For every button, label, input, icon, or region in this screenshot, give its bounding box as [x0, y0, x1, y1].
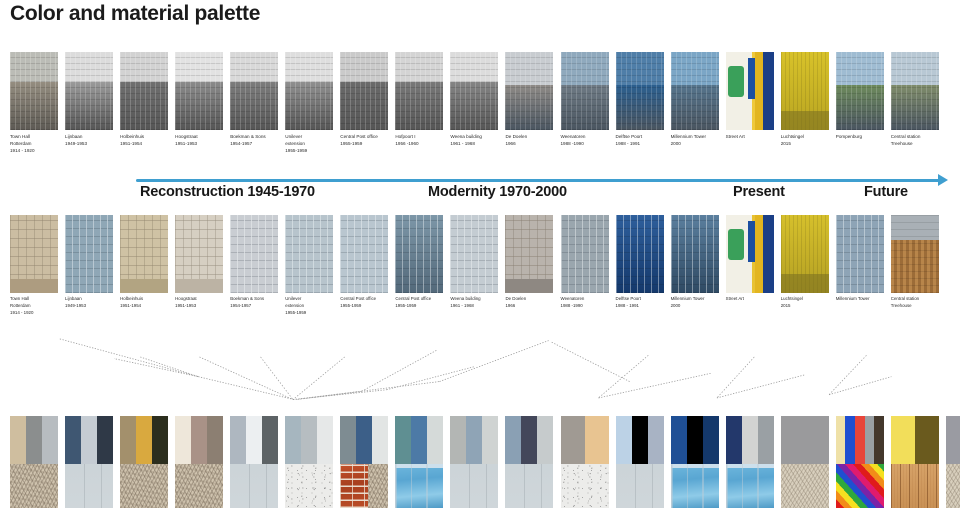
- luchtsingel-palette[interactable]: [891, 416, 939, 508]
- color-swatch: [616, 416, 632, 464]
- color-band: [450, 416, 498, 464]
- color-band: [836, 416, 884, 464]
- connector-line: [293, 390, 387, 400]
- building-thumbnail[interactable]: [505, 52, 553, 130]
- photo-cell[interactable]: De Doelen 1966: [505, 52, 553, 147]
- unilever-palette[interactable]: [285, 416, 333, 508]
- color-swatch: [671, 416, 687, 464]
- connector-line: [362, 350, 437, 391]
- material-swatch: [285, 464, 333, 508]
- connector-line: [199, 357, 293, 400]
- building-thumbnail[interactable]: [10, 52, 58, 130]
- color-swatch: [136, 416, 152, 464]
- building-thumbnail[interactable]: [10, 215, 58, 293]
- building-thumbnail[interactable]: [395, 215, 443, 293]
- photo-cell[interactable]: Luchtsingel 2015: [781, 215, 829, 310]
- color-swatch: [340, 416, 356, 464]
- timeline-era-future: Future: [864, 184, 908, 200]
- central-post-office-palette[interactable]: [340, 416, 388, 508]
- color-swatch: [836, 416, 846, 464]
- photo-caption: Boekman & Sons 1954-1957: [230, 133, 278, 147]
- photo-cell[interactable]: Holbeinhuis 1951-1954: [120, 52, 168, 147]
- photo-caption: Hofpoort I 1956 -1960: [395, 133, 443, 147]
- photo-caption: Hoogstraat 1951-1953: [175, 133, 223, 147]
- building-thumbnail[interactable]: [505, 215, 553, 293]
- photo-cell[interactable]: Town Hall Rotterdam 1914 - 1920: [10, 52, 58, 154]
- building-thumbnail[interactable]: [616, 52, 664, 130]
- color-swatch: [855, 416, 865, 464]
- photo-caption: De Doelen 1966: [505, 296, 553, 310]
- building-thumbnail[interactable]: [891, 52, 939, 130]
- connector-line: [829, 355, 866, 394]
- color-band: [726, 416, 774, 464]
- building-thumbnail[interactable]: [781, 52, 829, 130]
- weenatoren-palette[interactable]: [561, 416, 609, 508]
- color-swatch: [505, 416, 521, 464]
- photo-cell[interactable]: Unilever extension 1955-1959: [285, 215, 333, 316]
- material-swatch: [616, 464, 664, 508]
- photo-cell[interactable]: Unilever extension 1955-1959: [285, 52, 333, 154]
- building-thumbnail[interactable]: [561, 215, 609, 293]
- photo-caption: Millennium Tower: [836, 296, 884, 303]
- color-swatch: [65, 416, 81, 464]
- material-swatch: [120, 464, 168, 508]
- material-swatch: [781, 464, 829, 508]
- photo-cell[interactable]: Weena building 1961 - 1968: [450, 52, 498, 147]
- timeline-era-modernity: Modernity 1970-2000: [428, 184, 567, 200]
- hoogstraat-palette[interactable]: [175, 416, 223, 508]
- building-thumbnail[interactable]: [65, 52, 113, 130]
- connector-lines: [0, 334, 960, 416]
- building-thumbnail[interactable]: [175, 215, 223, 293]
- color-band: [781, 416, 829, 464]
- color-swatch: [874, 416, 884, 464]
- photo-cell[interactable]: Street Art: [726, 215, 774, 303]
- building-thumbnail[interactable]: [285, 52, 333, 130]
- photo-cell[interactable]: Millennium Tower 2000: [671, 215, 719, 310]
- building-thumbnail[interactable]: [671, 215, 719, 293]
- color-swatch: [97, 416, 113, 464]
- photo-caption: Delftse Poort 1988 - 1991: [616, 133, 664, 147]
- connector-line: [114, 359, 198, 377]
- photo-caption: Lijnbaan 1949-1953: [65, 296, 113, 310]
- color-swatch: [427, 416, 443, 464]
- color-swatch: [10, 416, 26, 464]
- photo-cell[interactable]: Town Hall Rotterdam 1914 - 1920: [10, 215, 58, 316]
- photo-cell[interactable]: Weenatoren 1988 -1990: [561, 52, 609, 147]
- connector-line: [293, 357, 345, 400]
- building-thumbnail[interactable]: [450, 52, 498, 130]
- timeline-axis-line: [136, 179, 942, 182]
- color-swatch: [632, 416, 648, 464]
- connector-line: [717, 357, 754, 398]
- building-thumbnail[interactable]: [175, 52, 223, 130]
- building-thumbnail[interactable]: [450, 215, 498, 293]
- color-band: [561, 416, 609, 464]
- photo-caption: Central Post office 1955-1959: [340, 133, 388, 147]
- photo-cell[interactable]: Millennium Tower 2000: [671, 52, 719, 147]
- photo-caption: Delftse Poort 1988 - 1991: [616, 296, 664, 310]
- material-swatch: [65, 464, 113, 508]
- color-swatch: [742, 416, 758, 464]
- material-swatch: [230, 464, 278, 508]
- color-swatch: [648, 416, 664, 464]
- photo-cell[interactable]: Central Post office 1955-1959: [340, 52, 388, 147]
- photo-cell[interactable]: Street Art: [726, 52, 774, 140]
- photo-cell[interactable]: Holbeinhuis 1951-1954: [120, 215, 168, 310]
- building-thumbnail[interactable]: [616, 215, 664, 293]
- photo-cell[interactable]: Luchtsingel 2015: [781, 52, 829, 147]
- building-thumbnail[interactable]: [65, 215, 113, 293]
- color-swatch: [246, 416, 262, 464]
- building-thumbnail[interactable]: [120, 52, 168, 130]
- timeline: Reconstruction 1945-1970 Modernity 1970-…: [0, 170, 960, 210]
- material-swatch: [175, 464, 223, 508]
- material-swatch: [891, 464, 939, 508]
- photo-caption: Holbeinhuis 1951-1954: [120, 296, 168, 310]
- color-swatch: [411, 416, 427, 464]
- connector-line: [829, 377, 891, 395]
- color-swatch: [285, 416, 301, 464]
- holbeinhuis-palette[interactable]: [120, 416, 168, 508]
- photo-caption: Hoogstraat 1951-1953: [175, 296, 223, 310]
- photo-cell[interactable]: Delftse Poort 1988 - 1991: [616, 215, 664, 310]
- color-swatch: [726, 416, 742, 464]
- photo-caption: Central Post office 1955-1959: [395, 296, 443, 310]
- color-band: [671, 416, 719, 464]
- photo-caption: Luchtsingel 2015: [781, 133, 829, 147]
- building-thumbnail[interactable]: [836, 52, 884, 130]
- photo-caption: Millennium Tower 2000: [671, 133, 719, 147]
- photo-caption: De Doelen 1966: [505, 133, 553, 147]
- color-swatch: [175, 416, 191, 464]
- color-swatch: [120, 416, 136, 464]
- weena-palette[interactable]: [450, 416, 498, 508]
- millennium-tower-2-palette[interactable]: [726, 416, 774, 508]
- color-swatch: [152, 416, 168, 464]
- material-swatch: [726, 464, 774, 508]
- town-hall-palette[interactable]: [10, 416, 58, 508]
- color-swatch: [482, 416, 498, 464]
- building-thumbnail[interactable]: [561, 52, 609, 130]
- color-swatch: [521, 416, 537, 464]
- connector-line: [598, 355, 648, 398]
- photo-cell[interactable]: Lijnbaan 1949-1953: [65, 52, 113, 147]
- photo-caption: Unilever extension 1955-1959: [285, 133, 333, 154]
- central-post-office-2-palette[interactable]: [395, 416, 443, 508]
- photo-cell[interactable]: Lijnbaan 1949-1953: [65, 215, 113, 310]
- building-thumbnail[interactable]: [120, 215, 168, 293]
- connector-line: [261, 357, 293, 400]
- color-band: [946, 416, 960, 464]
- color-band: [175, 416, 223, 464]
- photo-caption: Central station Treehouse: [891, 133, 939, 147]
- color-swatch: [891, 416, 915, 464]
- photo-caption: Lijnbaan 1949-1953: [65, 133, 113, 147]
- building-thumbnail[interactable]: [781, 215, 829, 293]
- material-swatch: [10, 464, 58, 508]
- color-swatch: [585, 416, 609, 464]
- color-swatch: [537, 416, 553, 464]
- connector-line: [198, 377, 294, 400]
- photo-cell[interactable]: Weena building 1961 - 1968: [450, 215, 498, 310]
- photo-cell[interactable]: Delftse Poort 1988 - 1991: [616, 52, 664, 147]
- photo-caption: Holbeinhuis 1951-1954: [120, 133, 168, 147]
- photo-caption: Street Art: [726, 133, 774, 140]
- photo-caption: Town Hall Rotterdam 1914 - 1920: [10, 133, 58, 154]
- color-band: [10, 416, 58, 464]
- color-swatch: [317, 416, 333, 464]
- color-swatch: [395, 416, 411, 464]
- timeline-era-present: Present: [733, 184, 785, 200]
- timeline-era-reconstruction: Reconstruction 1945-1970: [140, 184, 315, 200]
- delftse-poort-palette[interactable]: [616, 416, 664, 508]
- material-swatch: [671, 464, 719, 508]
- color-band: [230, 416, 278, 464]
- color-swatch: [561, 416, 585, 464]
- photo-caption: Central station Treehouse: [891, 296, 939, 310]
- material-swatch: [395, 464, 443, 508]
- color-band: [395, 416, 443, 464]
- building-thumbnail[interactable]: [230, 215, 278, 293]
- photo-cell[interactable]: Boekman & Sons 1954-1957: [230, 215, 278, 310]
- photo-caption: Street Art: [726, 296, 774, 303]
- photo-caption: Luchtsingel 2015: [781, 296, 829, 310]
- lijnbaan-palette[interactable]: [65, 416, 113, 508]
- color-swatch: [865, 416, 875, 464]
- photo-caption: Weena building 1961 - 1968: [450, 133, 498, 147]
- material-swatch: [836, 464, 884, 508]
- boekman-palette[interactable]: [230, 416, 278, 508]
- photo-caption: Town Hall Rotterdam 1914 - 1920: [10, 296, 58, 316]
- material-swatch: [561, 464, 609, 508]
- de-doelen-palette[interactable]: [505, 416, 553, 508]
- color-swatch: [356, 416, 372, 464]
- photo-caption: Unilever extension 1955-1959: [285, 296, 333, 316]
- color-band: [65, 416, 113, 464]
- color-band: [891, 416, 939, 464]
- building-thumbnail[interactable]: [891, 215, 939, 293]
- building-thumbnail[interactable]: [671, 52, 719, 130]
- color-swatch: [262, 416, 278, 464]
- photo-cell[interactable]: De Doelen 1966: [505, 215, 553, 310]
- material-swatch: [340, 464, 388, 508]
- color-swatch: [946, 416, 960, 464]
- color-swatch: [81, 416, 97, 464]
- street-art-palette[interactable]: [836, 416, 884, 508]
- millennium-tower-palette[interactable]: [671, 416, 719, 508]
- connector-line: [140, 357, 198, 377]
- material-swatch-brick: [340, 464, 368, 508]
- color-band: [285, 416, 333, 464]
- color-swatch: [26, 416, 42, 464]
- page-title: Color and material palette: [10, 2, 260, 26]
- photo-cell[interactable]: Hoogstraat 1951-1953: [175, 215, 223, 310]
- connector-line: [439, 341, 548, 382]
- color-band: [616, 416, 664, 464]
- color-swatch: [687, 416, 703, 464]
- color-band: [340, 416, 388, 464]
- photo-cell[interactable]: Central Post office 1955-1959: [395, 215, 443, 310]
- building-thumbnail[interactable]: [395, 52, 443, 130]
- building-thumbnail[interactable]: [836, 215, 884, 293]
- photo-cell[interactable]: Hoogstraat 1951-1953: [175, 52, 223, 147]
- photo-cell[interactable]: Weenatoren 1988 -1990: [561, 215, 609, 310]
- building-thumbnail[interactable]: [285, 215, 333, 293]
- connector-line: [60, 339, 198, 377]
- photo-caption: Weenatoren 1988 -1990: [561, 133, 609, 147]
- material-swatch: [505, 464, 553, 508]
- photo-cell[interactable]: Millennium Tower: [836, 215, 884, 303]
- building-thumbnail[interactable]: [726, 52, 774, 130]
- color-swatch: [301, 416, 317, 464]
- photo-caption: Boekman & Sons 1954-1957: [230, 296, 278, 310]
- photo-caption: Weenatoren 1988 -1990: [561, 296, 609, 310]
- color-band: [505, 416, 553, 464]
- photo-cell[interactable]: Central station Treehouse: [891, 215, 939, 310]
- material-swatch-stone: [368, 464, 388, 508]
- grey-stone-palette[interactable]: [781, 416, 829, 508]
- photo-caption: Pompenburg: [836, 133, 884, 140]
- pompenburg-palette[interactable]: [946, 416, 960, 508]
- color-swatch: [915, 416, 939, 464]
- right-arrow-icon: [938, 174, 948, 186]
- color-swatch: [781, 416, 829, 464]
- photo-cell[interactable]: Boekman & Sons 1954-1957: [230, 52, 278, 147]
- color-band: [120, 416, 168, 464]
- photo-caption: Millennium Tower 2000: [671, 296, 719, 310]
- connector-line: [598, 373, 710, 398]
- connector-line: [552, 342, 630, 381]
- photo-cell[interactable]: Central Post office 1955-1959: [340, 215, 388, 310]
- connector-line: [717, 375, 804, 398]
- building-thumbnail[interactable]: [726, 215, 774, 293]
- building-thumbnail[interactable]: [340, 52, 388, 130]
- color-swatch: [845, 416, 855, 464]
- color-swatch: [703, 416, 719, 464]
- photo-caption: Central Post office 1955-1959: [340, 296, 388, 310]
- color-swatch: [466, 416, 482, 464]
- color-swatch: [207, 416, 223, 464]
- building-thumbnail[interactable]: [230, 52, 278, 130]
- color-swatch: [230, 416, 246, 464]
- material-swatch: [946, 464, 960, 508]
- color-swatch: [758, 416, 774, 464]
- photo-caption: Weena building 1961 - 1968: [450, 296, 498, 310]
- color-swatch: [191, 416, 207, 464]
- photo-cell[interactable]: Hofpoort I 1956 -1960: [395, 52, 443, 147]
- color-swatch: [372, 416, 388, 464]
- building-thumbnail[interactable]: [340, 215, 388, 293]
- material-swatch: [450, 464, 498, 508]
- photo-cell[interactable]: Central station Treehouse: [891, 52, 939, 147]
- photo-cell[interactable]: Pompenburg: [836, 52, 884, 140]
- color-swatch: [42, 416, 58, 464]
- color-swatch: [450, 416, 466, 464]
